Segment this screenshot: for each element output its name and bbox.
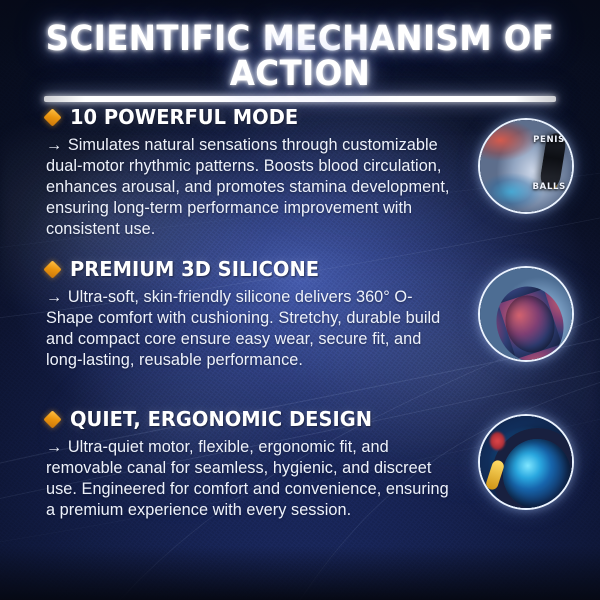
title-underline: [44, 96, 556, 102]
feature-heading-2: PREMIUM 3D SILICONE: [70, 258, 319, 281]
feature-heading-row-2: PREMIUM 3D SILICONE: [46, 258, 458, 281]
feature-body-text-3: Ultra-quiet motor, flexible, ergonomic f…: [46, 438, 449, 519]
diamond-bullet-icon: [43, 108, 61, 126]
feature-block-1: 10 POWERFUL MODE → Simulates natural sen…: [46, 106, 458, 240]
arrow-icon: →: [46, 438, 63, 456]
diamond-bullet-icon: [43, 410, 61, 428]
product-photo-glowing-ring: [478, 414, 574, 510]
product-photo-hand-demo: PENIS BALLS: [478, 118, 574, 214]
page-title-block: SCIENTIFIC MECHANISM OF ACTION: [0, 22, 600, 102]
product-accent-red: [490, 432, 505, 450]
product-photo-in-hand: [478, 266, 574, 362]
product-image-1: [480, 120, 572, 212]
feature-body-text-1: Simulates natural sensations through cus…: [46, 136, 450, 238]
feature-heading-3: QUIET, ERGONOMIC DESIGN: [70, 408, 372, 431]
feature-body-text-2: Ultra-soft, skin-friendly silicone deliv…: [46, 288, 440, 369]
diamond-bullet-icon: [43, 260, 61, 278]
feature-heading-row-3: QUIET, ERGONOMIC DESIGN: [46, 408, 458, 431]
callout-label-balls: BALLS: [532, 182, 566, 192]
feature-body-1: → Simulates natural sensations through c…: [46, 135, 458, 240]
callout-label-penis: PENIS: [533, 135, 565, 145]
arrow-icon: →: [46, 288, 63, 306]
feature-heading-1: 10 POWERFUL MODE: [70, 106, 298, 129]
feature-block-3: QUIET, ERGONOMIC DESIGN → Ultra-quiet mo…: [46, 408, 458, 521]
product-image-2: [480, 268, 572, 360]
feature-body-2: → Ultra-soft, skin-friendly silicone del…: [46, 287, 458, 371]
infographic-canvas: SCIENTIFIC MECHANISM OF ACTION 10 POWERF…: [0, 0, 600, 600]
feature-heading-row-1: 10 POWERFUL MODE: [46, 106, 458, 129]
page-title: SCIENTIFIC MECHANISM OF ACTION: [21, 22, 579, 92]
arrow-icon: →: [46, 136, 63, 154]
feature-body-3: → Ultra-quiet motor, flexible, ergonomic…: [46, 437, 458, 521]
feature-block-2: PREMIUM 3D SILICONE → Ultra-soft, skin-f…: [46, 258, 458, 371]
product-image-3: [480, 416, 572, 508]
